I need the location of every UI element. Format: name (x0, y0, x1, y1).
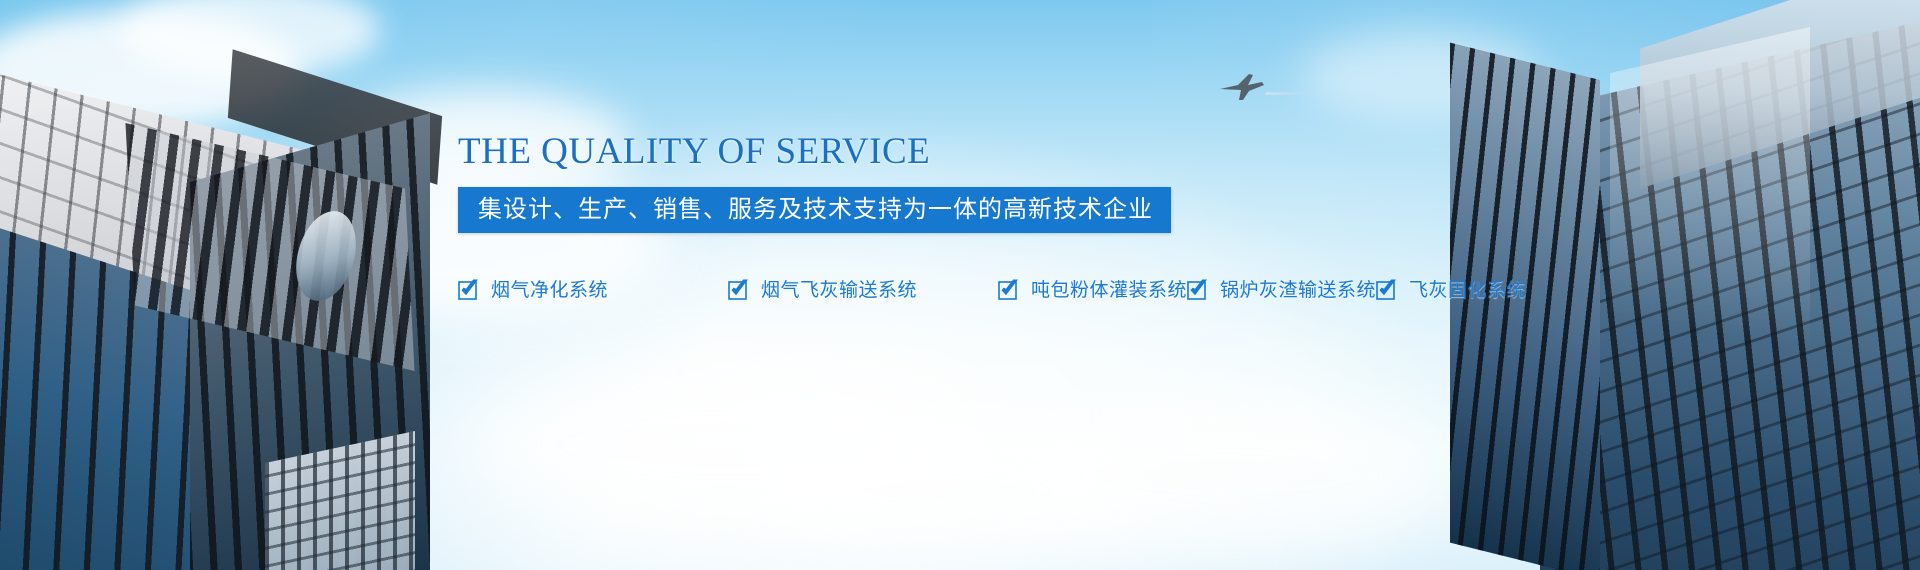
feature-label: 锅炉灰渣输送系统 (1220, 281, 1376, 300)
feature-label: 烟气飞灰输送系统 (761, 281, 917, 300)
banner-tagline-text: 集设计、生产、销售、服务及技术支持为一体的高新技术企业 (478, 195, 1153, 223)
checkbox-checked-icon (458, 281, 477, 300)
feature-list: 烟气净化系统 烟气飞灰输送系统 吨包粉体灌装 (458, 269, 1418, 313)
airplane-icon (1218, 72, 1266, 102)
feature-item[interactable]: 烟气飞灰输送系统 (728, 269, 998, 313)
feature-item[interactable]: 锅炉灰渣输送系统 (1187, 269, 1376, 313)
banner-headline: THE QUALITY OF SERVICE (458, 132, 1418, 173)
checkbox-checked-icon (1376, 281, 1395, 300)
hero-banner: THE QUALITY OF SERVICE 集设计、生产、销售、服务及技术支持… (0, 0, 1920, 570)
feature-item[interactable]: 烟气净化系统 (458, 269, 728, 313)
cloud (760, 430, 1140, 550)
banner-content: THE QUALITY OF SERVICE 集设计、生产、销售、服务及技术支持… (458, 132, 1418, 313)
feature-label: 吨包粉体灌装系统 (1031, 281, 1187, 300)
left-skyscraper (0, 62, 410, 570)
feature-label: 烟气净化系统 (491, 281, 608, 300)
tower-highlight (1610, 27, 1810, 493)
checkbox-checked-icon (728, 281, 747, 300)
feature-item[interactable]: 飞灰固化系统 (1376, 269, 1526, 313)
airplane-contrail (1265, 92, 1311, 95)
banner-tagline-bar: 集设计、生产、销售、服务及技术支持为一体的高新技术企业 (458, 187, 1171, 233)
feature-item[interactable]: 吨包粉体灌装系统 (998, 269, 1187, 313)
checkbox-checked-icon (998, 281, 1017, 300)
checkbox-checked-icon (1187, 281, 1206, 300)
feature-label: 飞灰固化系统 (1409, 281, 1526, 300)
